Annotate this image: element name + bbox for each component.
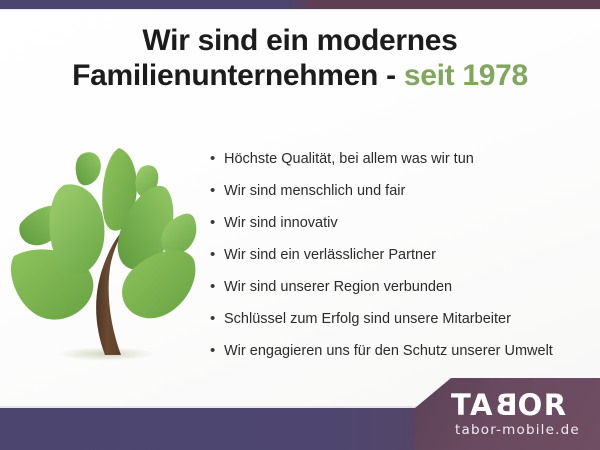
list-item-label: Wir sind ein verlässlicher Partner [224, 239, 436, 271]
list-item-label: Wir sind innovativ [224, 207, 338, 239]
list-item: • Wir sind innovativ [210, 207, 600, 239]
list-item: • Wir sind unserer Region verbunden [210, 271, 600, 303]
value-list: • Höchste Qualität, bei allem was wir tu… [210, 143, 600, 367]
brand-wordmark: TABOR [451, 388, 568, 422]
bullet-icon: • [210, 239, 224, 271]
tree-illustration [8, 140, 198, 375]
bullet-icon: • [210, 143, 224, 175]
page-title-line-2-main: Familienunternehmen - [72, 59, 404, 92]
bullet-icon: • [210, 335, 224, 367]
slide-canvas: Wir sind ein modernes Familienunternehme… [0, 0, 600, 450]
top-accent-bar-shadow [0, 9, 600, 11]
page-title-line-2: Familienunternehmen - seit 1978 [0, 59, 600, 94]
bullet-icon: • [210, 207, 224, 239]
list-item-label: Wir sind menschlich und fair [224, 175, 405, 207]
brand-wordmark-flipped-b: B [494, 388, 518, 422]
brand-url[interactable]: tabor-mobile.de [455, 422, 580, 438]
tree-leaf-top-small-left [76, 152, 101, 185]
brand-wordmark-part2: OR [518, 388, 568, 422]
list-item: • Wir sind menschlich und fair [210, 175, 600, 207]
bullet-icon: • [210, 271, 224, 303]
list-item-label: Höchste Qualität, bei allem was wir tun [224, 143, 474, 175]
page-title-accent: seit 1978 [404, 59, 528, 92]
top-accent-bar [0, 0, 600, 9]
tree-leaf-left-mid [50, 184, 105, 274]
list-item: • Schlüssel zum Erfolg sind unsere Mitar… [210, 303, 600, 335]
tree-icon [8, 140, 198, 375]
brand-wordmark-part1: TA [451, 388, 494, 422]
list-item: • Höchste Qualität, bei allem was wir tu… [210, 143, 600, 175]
page-title: Wir sind ein modernes Familienunternehme… [0, 24, 600, 94]
list-item: • Wir sind ein verlässlicher Partner [210, 239, 600, 271]
brand-logo[interactable]: TABOR tabor-mobile.de [415, 378, 600, 450]
list-item-label: Wir engagieren uns für den Schutz unsere… [224, 335, 553, 367]
list-item-label: Schlüssel zum Erfolg sind unsere Mitarbe… [224, 303, 511, 335]
bullet-icon: • [210, 175, 224, 207]
list-item-label: Wir sind unserer Region verbunden [224, 271, 452, 303]
page-title-line-1: Wir sind ein modernes [0, 24, 600, 59]
list-item: • Wir engagieren uns für den Schutz unse… [210, 335, 600, 367]
bullet-icon: • [210, 303, 224, 335]
